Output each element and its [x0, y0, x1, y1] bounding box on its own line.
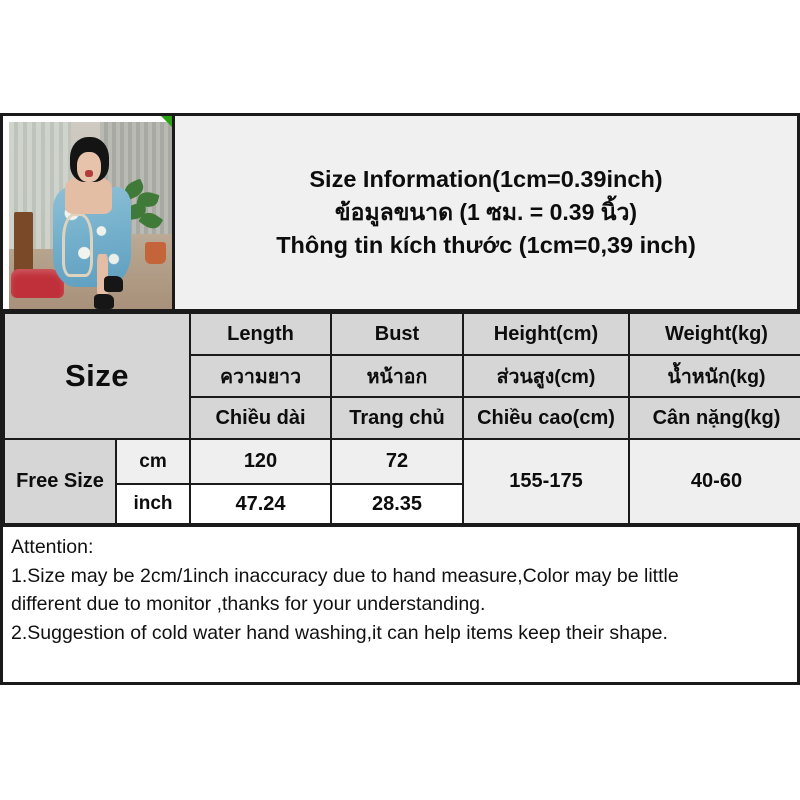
value-height: 155-175 — [463, 439, 629, 524]
header-weight-th: น้ำหนัก(kg) — [629, 355, 800, 397]
header-bust-th: หน้าอก — [331, 355, 463, 397]
header-height-vi: Chiều cao(cm) — [463, 397, 629, 439]
plant-pot — [145, 242, 167, 264]
header-length-th: ความยาว — [190, 355, 331, 397]
size-table: Size Length Bust Height(cm) Weight(kg) ค… — [3, 312, 800, 525]
header-bust-en: Bust — [331, 313, 463, 355]
title-thai: ข้อมูลขนาด (1 ซม. = 0.39 นิ้ว) — [335, 196, 637, 229]
green-triangle-marker-icon — [161, 116, 172, 127]
header-height-en: Height(cm) — [463, 313, 629, 355]
attention-line-2: different due to monitor ,thanks for you… — [11, 590, 789, 619]
size-column-header: Size — [4, 313, 190, 439]
model-torso — [65, 177, 112, 215]
unit-inch: inch — [116, 484, 190, 524]
model-bag — [62, 213, 93, 277]
title-english: Size Information(1cm=0.39inch) — [309, 163, 662, 196]
model-lips — [85, 170, 93, 177]
value-length-cm: 120 — [190, 439, 331, 484]
header-height-th: ส่วนสูง(cm) — [463, 355, 629, 397]
value-bust-inch: 28.35 — [331, 484, 463, 524]
row-label-free-size: Free Size — [4, 439, 116, 524]
header-length-en: Length — [190, 313, 331, 355]
product-photo-cell — [3, 116, 175, 309]
size-information-block: Size Information(1cm=0.39inch) ข้อมูลขนา… — [0, 113, 800, 685]
value-bust-cm: 72 — [331, 439, 463, 484]
value-weight: 40-60 — [629, 439, 800, 524]
unit-cm: cm — [116, 439, 190, 484]
header-weight-en: Weight(kg) — [629, 313, 800, 355]
header-bust-vi: Trang chủ — [331, 397, 463, 439]
attention-heading: Attention: — [11, 533, 789, 562]
table-row-header-en: Size Length Bust Height(cm) Weight(kg) — [4, 313, 800, 355]
product-photo — [9, 122, 172, 309]
attention-line-1: 1.Size may be 2cm/1inch inaccuracy due t… — [11, 562, 789, 591]
photo-model — [51, 137, 136, 309]
header-length-vi: Chiều dài — [190, 397, 331, 439]
size-chart-canvas: Size Information(1cm=0.39inch) ข้อมูลขนา… — [0, 0, 800, 800]
table-row-cm: Free Size cm 120 72 155-175 40-60 — [4, 439, 800, 484]
header-area: Size Information(1cm=0.39inch) ข้อมูลขนา… — [3, 116, 797, 312]
chair-back — [14, 212, 33, 274]
title-vietnamese: Thông tin kích thước (1cm=0,39 inch) — [276, 229, 696, 262]
model-shoe — [94, 294, 114, 309]
model-face — [77, 152, 101, 181]
value-length-inch: 47.24 — [190, 484, 331, 524]
attention-panel: Attention: 1.Size may be 2cm/1inch inacc… — [3, 525, 797, 682]
title-group: Size Information(1cm=0.39inch) ข้อมูลขนา… — [175, 116, 797, 309]
header-weight-vi: Cân nặng(kg) — [629, 397, 800, 439]
attention-line-3: 2.Suggestion of cold water hand washing,… — [11, 619, 789, 648]
model-shoe — [104, 276, 123, 291]
